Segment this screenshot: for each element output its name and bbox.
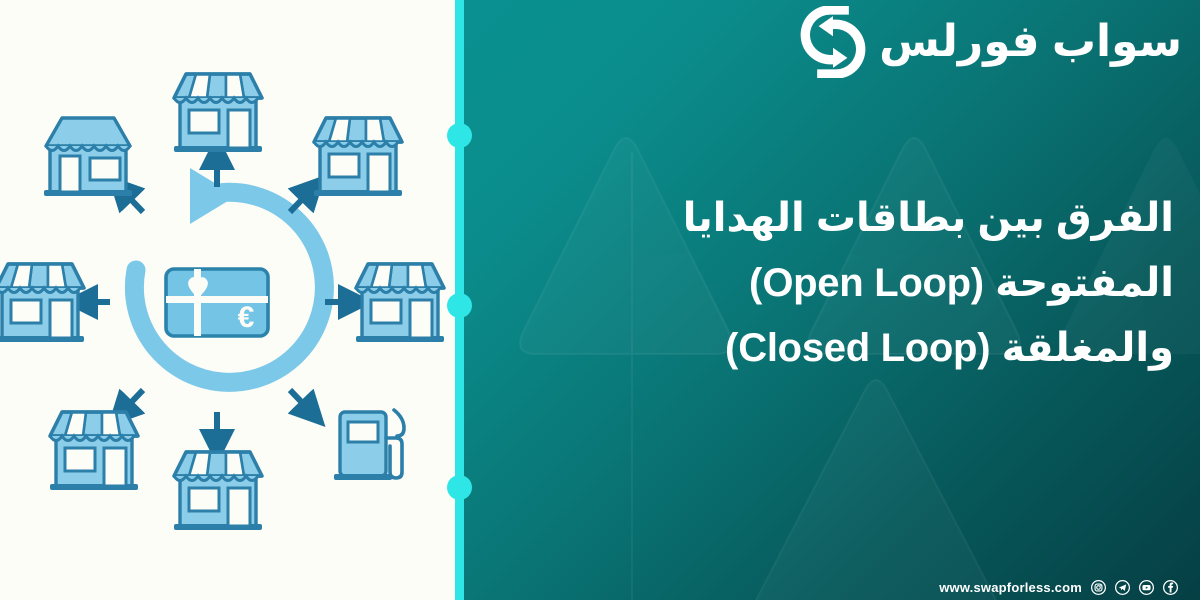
headline-line-2: المفتوحة (Open Loop) [488,251,1174,316]
website-url: www.swapforless.com [939,580,1082,595]
content-panel: سواب فورلس الفرق بين بطاقات الهدايا المف… [464,0,1200,600]
gas-station-icon [334,410,404,480]
svg-text:€: € [238,301,255,334]
gift-card-icon: € [166,269,268,336]
illustration-panel: € [0,0,462,600]
divider-dot-3 [447,475,472,500]
headline-line-1: الفرق بين بطاقات الهدايا [488,186,1174,251]
youtube-icon[interactable] [1139,580,1154,595]
brand-lockup: سواب فورلس [797,6,1182,78]
facebook-icon[interactable] [1163,580,1178,595]
store-icon-top-left [44,118,132,196]
open-loop-gift-card-network: € [0,0,462,600]
instagram-icon[interactable] [1091,580,1106,595]
store-icon-left [0,264,84,342]
swap-s-logo-icon [797,6,869,78]
divider-dot-1 [447,123,472,148]
store-icon-bottom [174,452,262,530]
telegram-icon[interactable] [1115,580,1130,595]
headline-line-3: والمغلقة (Closed Loop) [488,316,1174,381]
store-icon-top [174,74,262,152]
promo-banner: € [0,0,1200,600]
store-icon-right [356,264,444,342]
store-icon-top-right [314,118,402,196]
store-icon-bottom-left [50,412,138,490]
brand-name: سواب فورلس [879,20,1182,64]
page-title: الفرق بين بطاقات الهدايا المفتوحة (Open … [488,186,1174,380]
footer-bar: www.swapforless.com [939,580,1178,595]
divider-dot-2 [447,293,472,318]
